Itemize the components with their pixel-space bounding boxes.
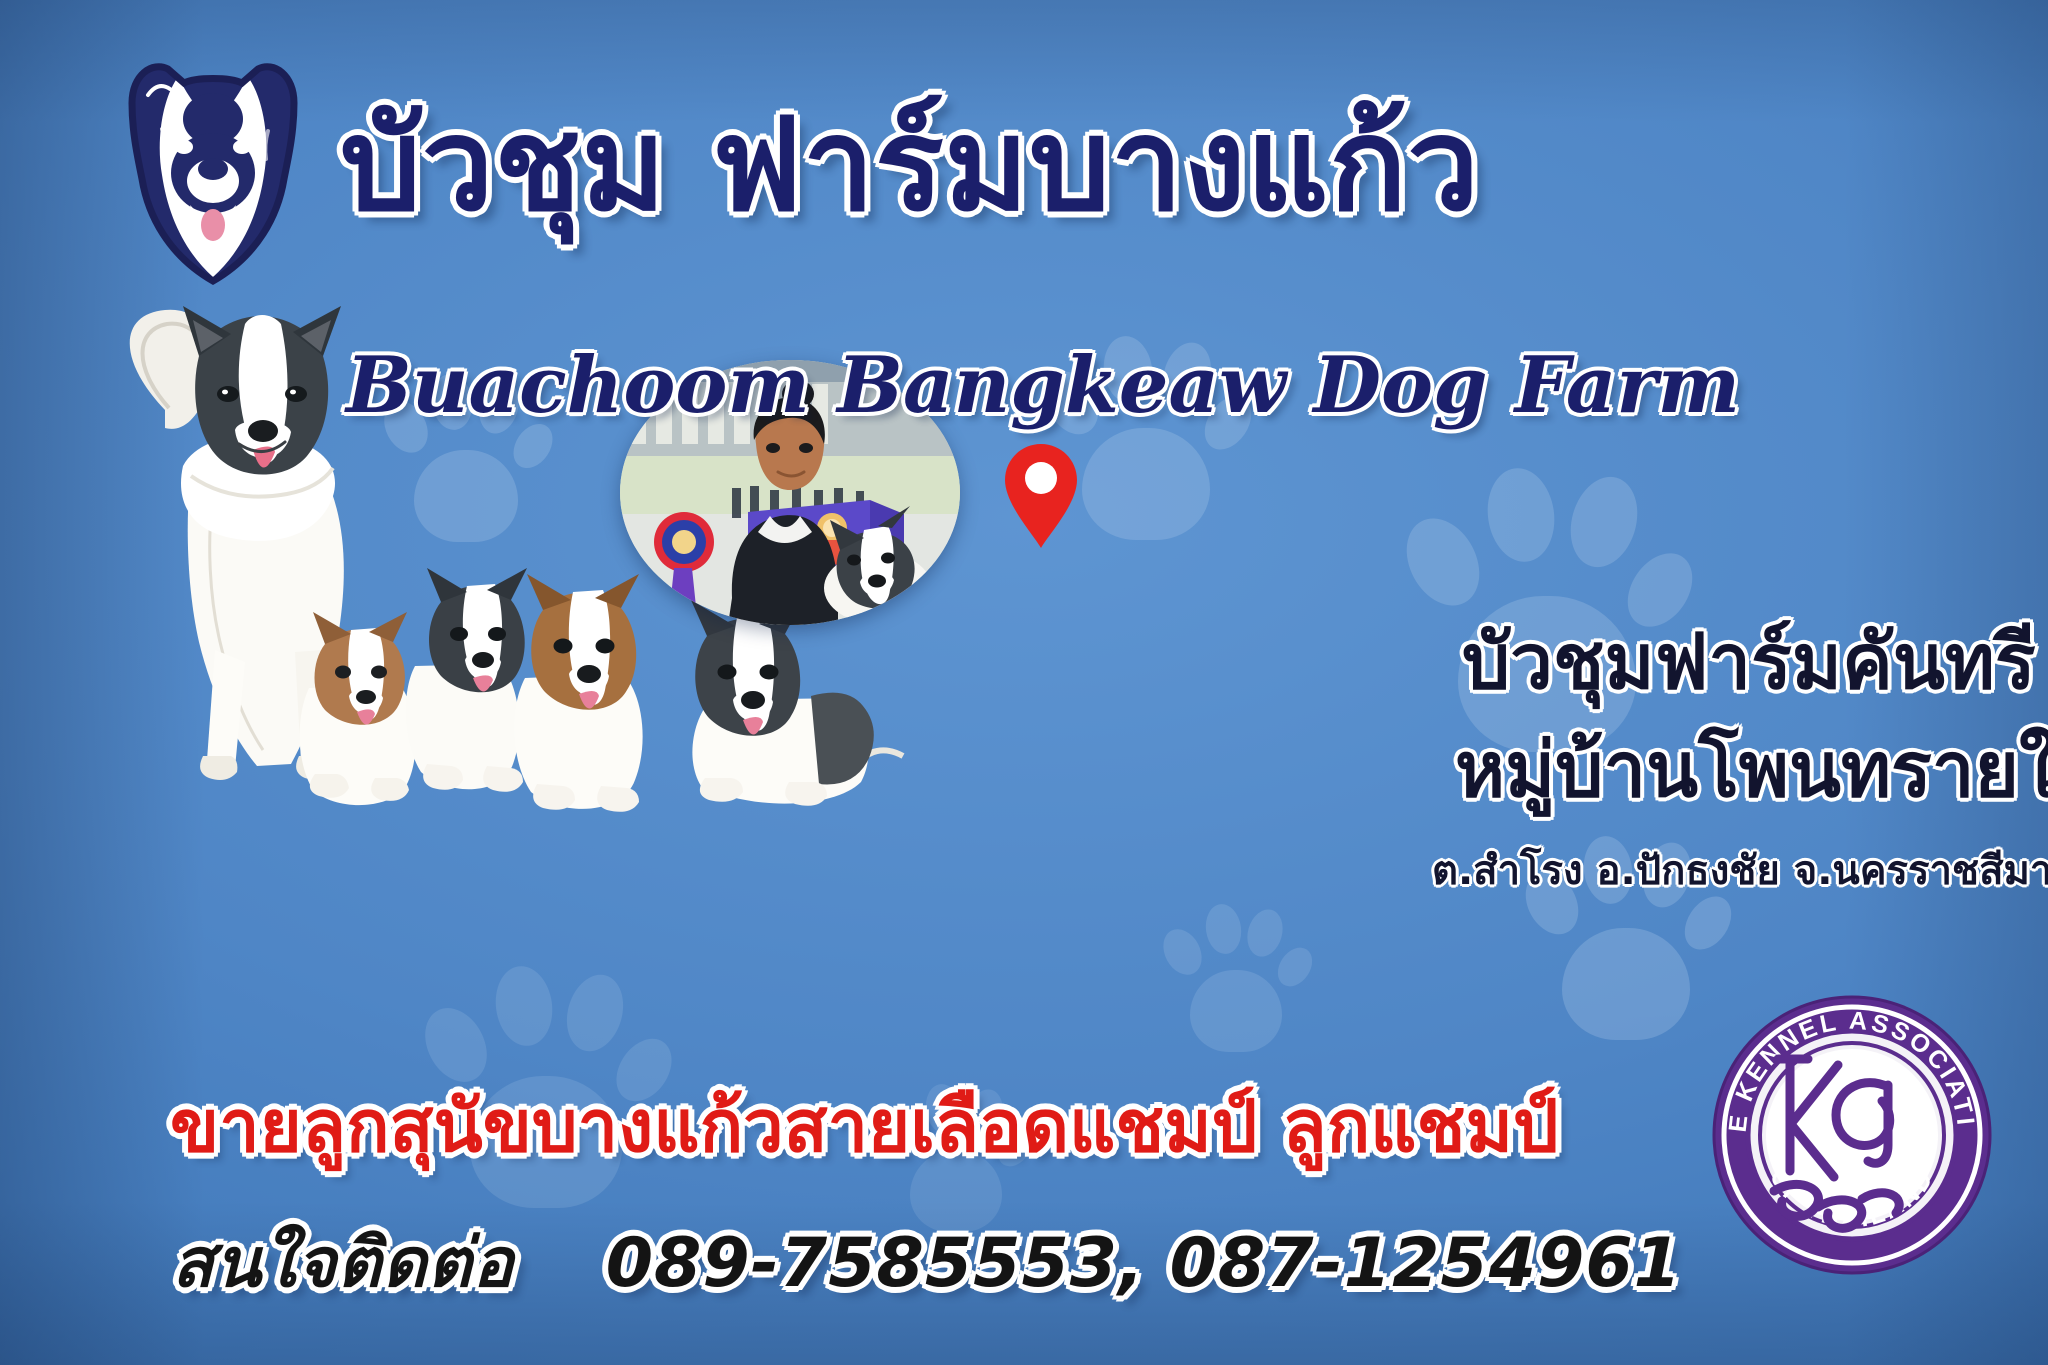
farm-logo <box>118 55 308 290</box>
kennel-association-seal: THE KENNEL ASSOCIATION OF THAILAND <box>1712 995 1992 1275</box>
map-pin-icon <box>1003 442 1079 550</box>
location-district-line: ต.สำโรง อ.ปักธงชัย จ.นครราชสีมา <box>1432 838 2048 902</box>
advertisement-banner: dHeart <box>0 0 2048 1365</box>
contact-line: สนใจติดต่อ 089-7585553, 087-1254961 <box>172 1208 1682 1316</box>
sale-headline: ขายลูกสุนัขบางแก้วสายเลือดแชมป์ ลูกแชมป์ <box>170 1068 1559 1183</box>
farm-english-title: Buachoom Bangkeaw Dog Farm <box>346 345 1740 427</box>
contact-label: สนใจติดต่อ <box>172 1224 514 1303</box>
location-name-line2: หมู่บ้านโพนทรายใต้ <box>1455 710 2048 830</box>
phone-numbers: 089-7585553, 087-1254961 <box>606 1224 1682 1303</box>
location-name-line1: บัวชุมฟาร์มคันทรี <box>1462 602 2036 722</box>
farm-thai-title: บัวชุม ฟาร์มบางแก้ว <box>340 96 1480 237</box>
